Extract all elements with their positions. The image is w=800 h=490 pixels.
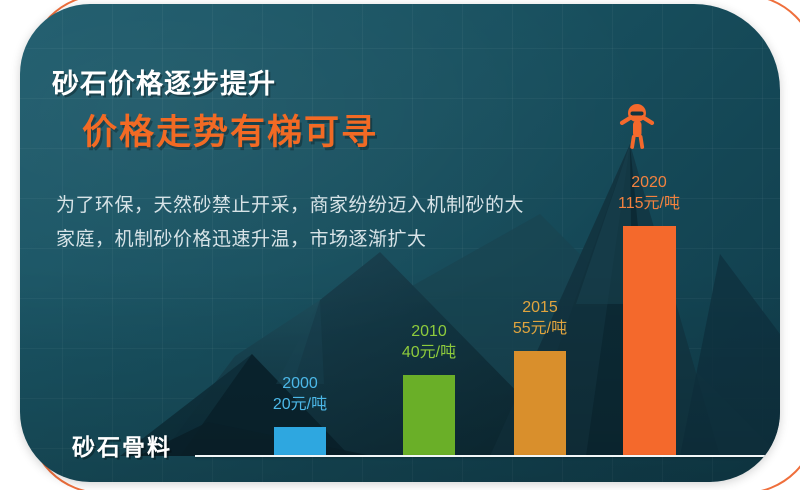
infographic-card: 砂石价格逐步提升 价格走势有梯可寻 为了环保，天然砂禁止开采，商家纷纷迈入机制砂…	[20, 4, 780, 482]
bar-year-2000: 2000	[264, 373, 336, 394]
bar-price-2020: 115元/吨	[613, 193, 685, 214]
bar-2015[interactable]	[514, 351, 566, 455]
bar-year-2020: 2020	[613, 172, 685, 193]
footer-category-label: 砂石骨料	[72, 428, 172, 462]
person-cheering-icon	[616, 102, 658, 150]
chart-baseline-axis	[195, 455, 780, 457]
bar-label-2000: 2000 20元/吨	[264, 373, 336, 415]
page-title: 砂石价格逐步提升	[52, 62, 276, 101]
body-paragraph: 为了环保，天然砂禁止开采，商家纷纷迈入机制砂的大家庭，机制砂价格迅速升温，市场逐…	[56, 189, 526, 257]
page-subtitle: 价格走势有梯可寻	[82, 104, 378, 155]
bar-price-2010: 40元/吨	[393, 342, 465, 363]
bar-year-2010: 2010	[393, 321, 465, 342]
bar-label-2020: 2020 115元/吨	[613, 172, 685, 214]
bar-label-2010: 2010 40元/吨	[393, 321, 465, 363]
bar-2000[interactable]	[274, 427, 326, 455]
bar-label-2015: 2015 55元/吨	[504, 297, 576, 339]
bar-2020[interactable]	[623, 226, 676, 455]
infographic-canvas: 砂石价格逐步提升 价格走势有梯可寻 为了环保，天然砂禁止开采，商家纷纷迈入机制砂…	[0, 0, 800, 490]
bar-year-2015: 2015	[504, 297, 576, 318]
bar-price-2015: 55元/吨	[504, 318, 576, 339]
bar-price-2000: 20元/吨	[264, 394, 336, 415]
bar-2010[interactable]	[403, 375, 455, 455]
